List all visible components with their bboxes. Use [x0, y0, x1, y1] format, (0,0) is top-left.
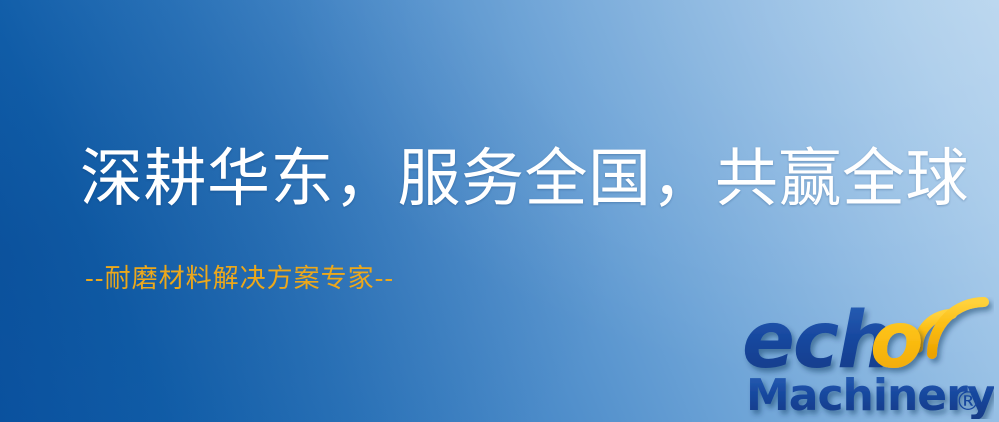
banner-subheadline: --耐磨材料解决方案专家--	[85, 265, 394, 294]
echo-machinery-logo: ech o Machinery ®	[742, 297, 994, 419]
logo-registered-mark: ®	[955, 387, 981, 417]
hero-banner: 深耕华东，服务全国，共赢全球 --耐磨材料解决方案专家--	[0, 0, 999, 422]
banner-headline: 深耕华东，服务全国，共赢全球	[80, 147, 969, 210]
logo-svg: ech o Machinery ®	[742, 297, 994, 419]
echo-wave-icon	[918, 302, 984, 354]
